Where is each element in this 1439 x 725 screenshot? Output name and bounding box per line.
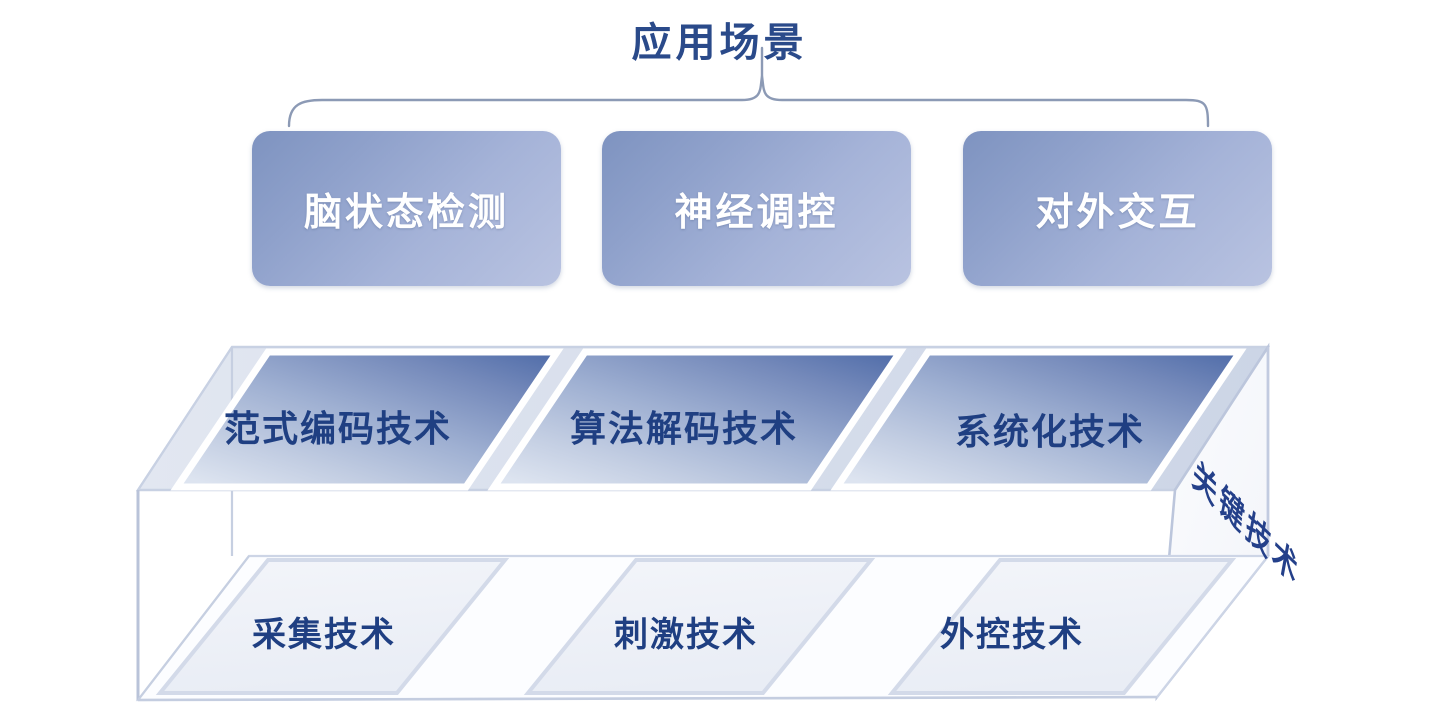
- application-box-3[interactable]: 对外交互: [963, 131, 1272, 286]
- application-box-2[interactable]: 神经调控: [602, 131, 911, 286]
- diagram-vector-layer: [0, 0, 1439, 725]
- page-title: 应用场景: [0, 10, 1439, 68]
- application-box-2-label: 神经调控: [674, 181, 838, 236]
- application-box-1-label: 脑状态检测: [304, 181, 509, 236]
- application-box-3-label: 对外交互: [1035, 181, 1199, 236]
- key-technology-3d-box: [138, 347, 1268, 700]
- diagram-canvas: 应用场景 脑状态检测 神经调控 对外交互 范式编码技术 算法解码技术 系统化技术…: [0, 0, 1439, 725]
- application-box-1[interactable]: 脑状态检测: [252, 131, 561, 286]
